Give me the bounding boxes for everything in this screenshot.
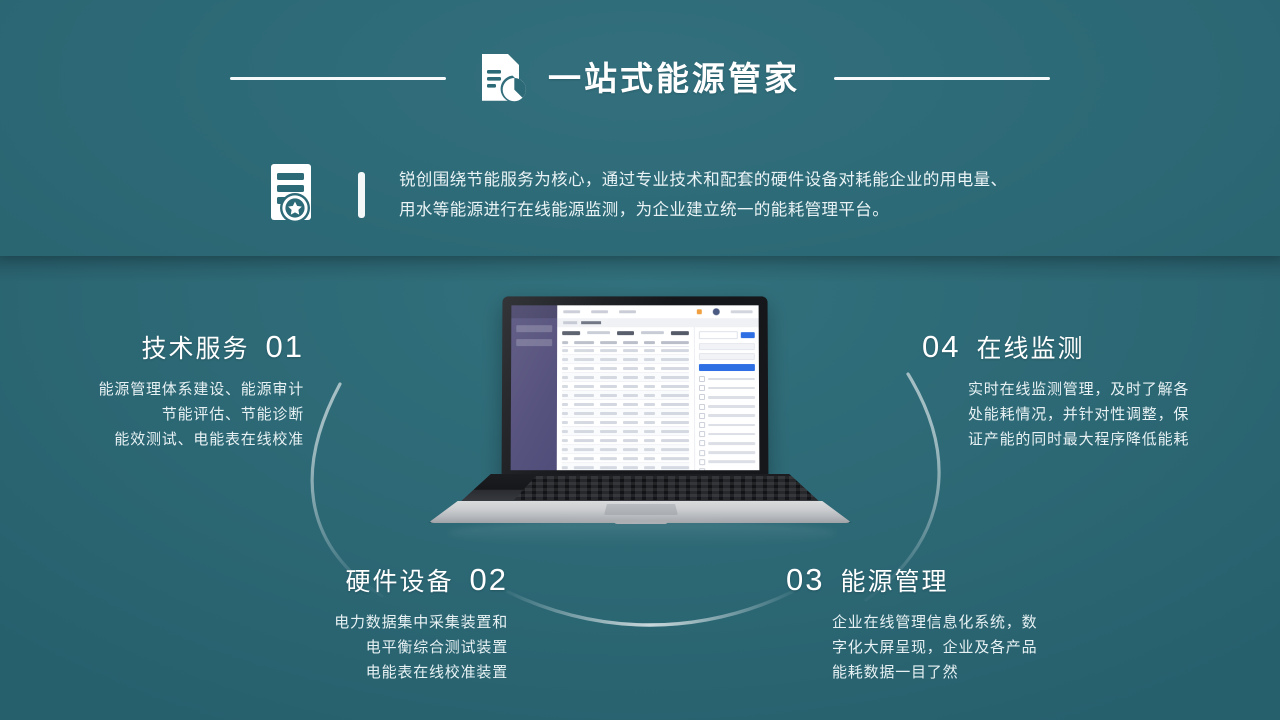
column-header: [601, 341, 617, 344]
column-header: [562, 341, 568, 344]
table-filters[interactable]: [562, 331, 689, 334]
dashboard-topbar: [557, 305, 758, 318]
dashboard-brand-logo: [511, 305, 557, 318]
checkbox-item[interactable]: [699, 431, 755, 437]
column-header: [660, 341, 688, 344]
search-button[interactable]: [741, 332, 755, 338]
table-header-row: [562, 339, 689, 347]
table-row[interactable]: [562, 418, 689, 427]
table-row[interactable]: [562, 436, 689, 445]
feature-body: 实时在线监测管理，及时了解各 处能耗情况，并针对性调整，保 证产能的同时最大程序…: [922, 377, 1252, 452]
checkbox-item[interactable]: [699, 450, 755, 456]
search-input[interactable]: [699, 331, 738, 339]
keyboard-keys: [514, 476, 826, 500]
feature-heading: 技术服务 01: [12, 330, 304, 364]
checkbox-item[interactable]: [699, 422, 755, 428]
keyboard-deck: [458, 474, 822, 504]
document-pie-chart-icon: [478, 51, 528, 105]
divider-line-left: [230, 77, 446, 80]
feature-line: 企业在线管理信息化系统，数: [832, 610, 1116, 635]
table-row[interactable]: [562, 382, 689, 391]
user-name: [731, 310, 753, 313]
checkbox-item[interactable]: [699, 413, 755, 419]
table-row[interactable]: [562, 391, 689, 400]
panel-shadow: [0, 256, 1280, 282]
edit-icon[interactable]: [697, 309, 702, 314]
dashboard-main: [557, 305, 760, 470]
dashboard-body: [557, 327, 760, 470]
table-row[interactable]: [562, 400, 689, 409]
feature-number: 01: [266, 330, 304, 364]
breadcrumb: [557, 318, 759, 327]
feature-body: 电力数据集中采集装置和 电平衡综合测试装置 电能表在线校准装置: [196, 610, 508, 685]
filter-label: [671, 331, 689, 334]
breadcrumb-item[interactable]: [563, 321, 577, 323]
table-row[interactable]: [562, 427, 689, 436]
feature-heading: 03 能源管理: [786, 563, 1116, 597]
topbar-nav-item[interactable]: [563, 310, 580, 313]
feature-line: 节能评估、节能诊断: [12, 402, 304, 427]
intro-text: 锐创围绕节能服务为核心，通过专业技术和配套的硬件设备对耗能企业的用电量、 用水等…: [399, 165, 1007, 225]
feature-block-03: 03 能源管理 企业在线管理信息化系统，数 字化大屏呈现，企业及各产品 能耗数据…: [786, 563, 1116, 685]
feature-line: 能耗数据一目了然: [832, 660, 1116, 685]
column-header: [623, 341, 638, 344]
dropdown-select[interactable]: [699, 353, 755, 360]
primary-action-button[interactable]: [699, 364, 755, 371]
feature-line: 能效测试、电能表在线校准: [12, 427, 304, 452]
dashboard-sidebar[interactable]: [511, 305, 558, 470]
feature-block-02: 硬件设备 02 电力数据集中采集装置和 电平衡综合测试装置 电能表在线校准装置: [196, 563, 508, 685]
feature-line: 证产能的同时最大程序降低能耗: [968, 427, 1252, 452]
intro-separator-bar: [358, 172, 365, 218]
table-row[interactable]: [562, 454, 689, 463]
breadcrumb-current: [581, 321, 601, 323]
feature-heading: 硬件设备 02: [196, 563, 508, 597]
checkbox-item[interactable]: [699, 468, 755, 470]
document-star-badge-icon: [262, 160, 328, 230]
dashboard-side-rail: [694, 327, 760, 470]
checkbox-item[interactable]: [699, 394, 755, 400]
feature-body: 企业在线管理信息化系统，数 字化大屏呈现，企业及各产品 能耗数据一目了然: [786, 610, 1116, 685]
laptop-reflection: [448, 520, 836, 546]
feature-title: 技术服务: [142, 336, 250, 364]
feature-block-04: 04 在线监测 实时在线监测管理，及时了解各 处能耗情况，并针对性调整，保 证产…: [922, 330, 1252, 452]
filter-value[interactable]: [641, 331, 664, 334]
feature-number: 02: [470, 563, 508, 597]
feature-line: 处能耗情况，并针对性调整，保: [968, 402, 1252, 427]
intro-line-1: 锐创围绕节能服务为核心，通过专业技术和配套的硬件设备对耗能企业的用电量、: [399, 165, 1007, 195]
search-row[interactable]: [699, 331, 755, 339]
feature-number: 03: [786, 563, 824, 597]
slide-canvas: 一站式能源管家 锐创围绕节能服务为核心，通过专业技术和配套的硬件设备对耗能企业的…: [0, 0, 1280, 720]
topbar-nav-item[interactable]: [591, 310, 608, 313]
checkbox-item[interactable]: [699, 440, 755, 446]
table-row[interactable]: [562, 445, 689, 454]
topbar-nav-item[interactable]: [619, 310, 636, 313]
checkbox-item[interactable]: [699, 385, 755, 391]
column-header: [644, 341, 655, 344]
table-row[interactable]: [562, 365, 689, 374]
slide-header: 一站式能源管家: [0, 48, 1280, 108]
data-table: [557, 327, 694, 470]
filter-label: [617, 331, 635, 334]
intro-block: 锐创围绕节能服务为核心，通过专业技术和配套的硬件设备对耗能企业的用电量、 用水等…: [262, 160, 1007, 230]
feature-title: 能源管理: [840, 569, 948, 597]
intro-line-2: 用水等能源进行在线能源监测，为企业建立统一的能耗管理平台。: [399, 195, 1007, 225]
feature-line: 实时在线监测管理，及时了解各: [968, 377, 1252, 402]
laptop-base: [428, 474, 852, 520]
laptop-lid: [502, 296, 769, 482]
page-title: 一站式能源管家: [548, 62, 800, 95]
table-row[interactable]: [562, 463, 689, 470]
divider-line-right: [834, 77, 1050, 80]
sidebar-item[interactable]: [516, 339, 552, 346]
feature-heading: 04 在线监测: [922, 330, 1252, 364]
feature-number: 04: [922, 330, 960, 364]
checkbox-item[interactable]: [699, 459, 755, 465]
column-header: [574, 341, 594, 344]
checkbox-item[interactable]: [699, 404, 755, 410]
sidebar-item[interactable]: [516, 325, 552, 332]
filter-value[interactable]: [587, 331, 610, 334]
trackpad: [604, 504, 678, 515]
feature-line: 能源管理体系建设、能源审计: [12, 377, 304, 402]
avatar[interactable]: [713, 308, 720, 315]
laptop-mockup: [428, 296, 852, 528]
feature-title: 硬件设备: [346, 569, 454, 597]
feature-line: 字化大屏呈现，企业及各产品: [832, 635, 1116, 660]
feature-body: 能源管理体系建设、能源审计 节能评估、节能诊断 能效测试、电能表在线校准: [12, 377, 304, 452]
feature-line: 电力数据集中采集装置和: [196, 610, 508, 635]
dashboard-screen[interactable]: [511, 305, 760, 470]
header-title-group: 一站式能源管家: [478, 51, 800, 105]
feature-block-01: 技术服务 01 能源管理体系建设、能源审计 节能评估、节能诊断 能效测试、电能表…: [12, 330, 304, 452]
filter-label: [562, 331, 580, 334]
checkbox-item[interactable]: [699, 376, 755, 382]
table-row[interactable]: [562, 373, 689, 382]
table-row[interactable]: [562, 347, 689, 356]
table-row[interactable]: [562, 356, 689, 365]
dropdown-select[interactable]: [699, 343, 755, 350]
feature-line: 电能表在线校准装置: [196, 660, 508, 685]
feature-title: 在线监测: [976, 336, 1084, 364]
table-row[interactable]: [562, 409, 689, 418]
feature-line: 电平衡综合测试装置: [196, 635, 508, 660]
